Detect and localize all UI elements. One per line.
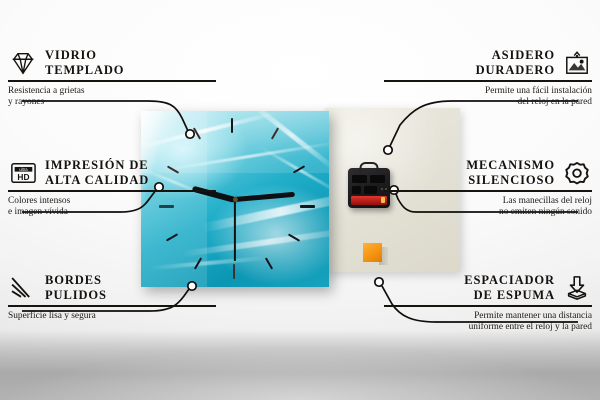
feature-divider (8, 190, 216, 192)
polished-edges-icon (8, 275, 38, 301)
connector-endpoint (375, 278, 383, 286)
feature-header: BORDES PULIDOS (8, 273, 216, 302)
connector-endpoint (186, 130, 194, 138)
diamond-icon (8, 50, 38, 76)
feature-subtitle: Superficie lisa y segura (8, 311, 216, 322)
feature-divider (8, 305, 216, 307)
feature-header: ASIDERO DURADERO (384, 48, 592, 77)
feature-title: MECANISMO SILENCIOSO (466, 158, 555, 187)
feature-header: VIDRIO TEMPLADO (8, 48, 216, 77)
feature-title: IMPRESIÓN DE ALTA CALIDAD (45, 158, 149, 187)
feature-mecanismo-silencioso: MECANISMO SILENCIOSO Las manecillas del … (384, 158, 592, 218)
feature-subtitle: Permite una fácil instalación del reloj … (384, 86, 592, 109)
feature-header: MECANISMO SILENCIOSO (384, 158, 592, 187)
feature-asidero-duradero: ASIDERO DURADERO Permite una fácil insta… (384, 48, 592, 108)
feature-vidrio-templado: VIDRIO TEMPLADO Resistencia a grietas y … (8, 48, 216, 108)
connector-endpoint (384, 146, 392, 154)
feature-subtitle: Las manecillas del reloj no emiten ningú… (384, 196, 592, 219)
feature-header: ultra HD IMPRESIÓN DE ALTA CALIDAD (8, 158, 216, 187)
foam-spacer-arrow-icon (562, 275, 592, 301)
feature-impresion-alta-calidad: ultra HD IMPRESIÓN DE ALTA CALIDAD Color… (8, 158, 216, 218)
wall-hanger-frame-icon (562, 50, 592, 76)
feature-title: ASIDERO DURADERO (476, 48, 555, 77)
feature-subtitle: Permite mantener una distancia uniforme … (384, 311, 592, 334)
ultra-hd-icon: ultra HD (8, 160, 38, 186)
gear-icon (562, 160, 592, 186)
feature-subtitle: Colores intensos e imagen vívida (8, 196, 216, 219)
feature-divider (384, 80, 592, 82)
feature-divider (8, 80, 216, 82)
feature-bordes-pulidos: BORDES PULIDOS Superficie lisa y segura (8, 273, 216, 322)
feature-espaciador-de-espuma: ESPACIADOR DE ESPUMA Permite mantener un… (384, 273, 592, 333)
svg-text:HD: HD (17, 171, 29, 181)
feature-title: BORDES PULIDOS (45, 273, 107, 302)
feature-subtitle: Resistencia a grietas y rayones (8, 86, 216, 109)
infographic-canvas: VIDRIO TEMPLADO Resistencia a grietas y … (0, 0, 600, 400)
feature-divider (384, 190, 592, 192)
feature-title: ESPACIADOR DE ESPUMA (464, 273, 555, 302)
feature-title: VIDRIO TEMPLADO (45, 48, 124, 77)
feature-divider (384, 305, 592, 307)
feature-header: ESPACIADOR DE ESPUMA (384, 273, 592, 302)
